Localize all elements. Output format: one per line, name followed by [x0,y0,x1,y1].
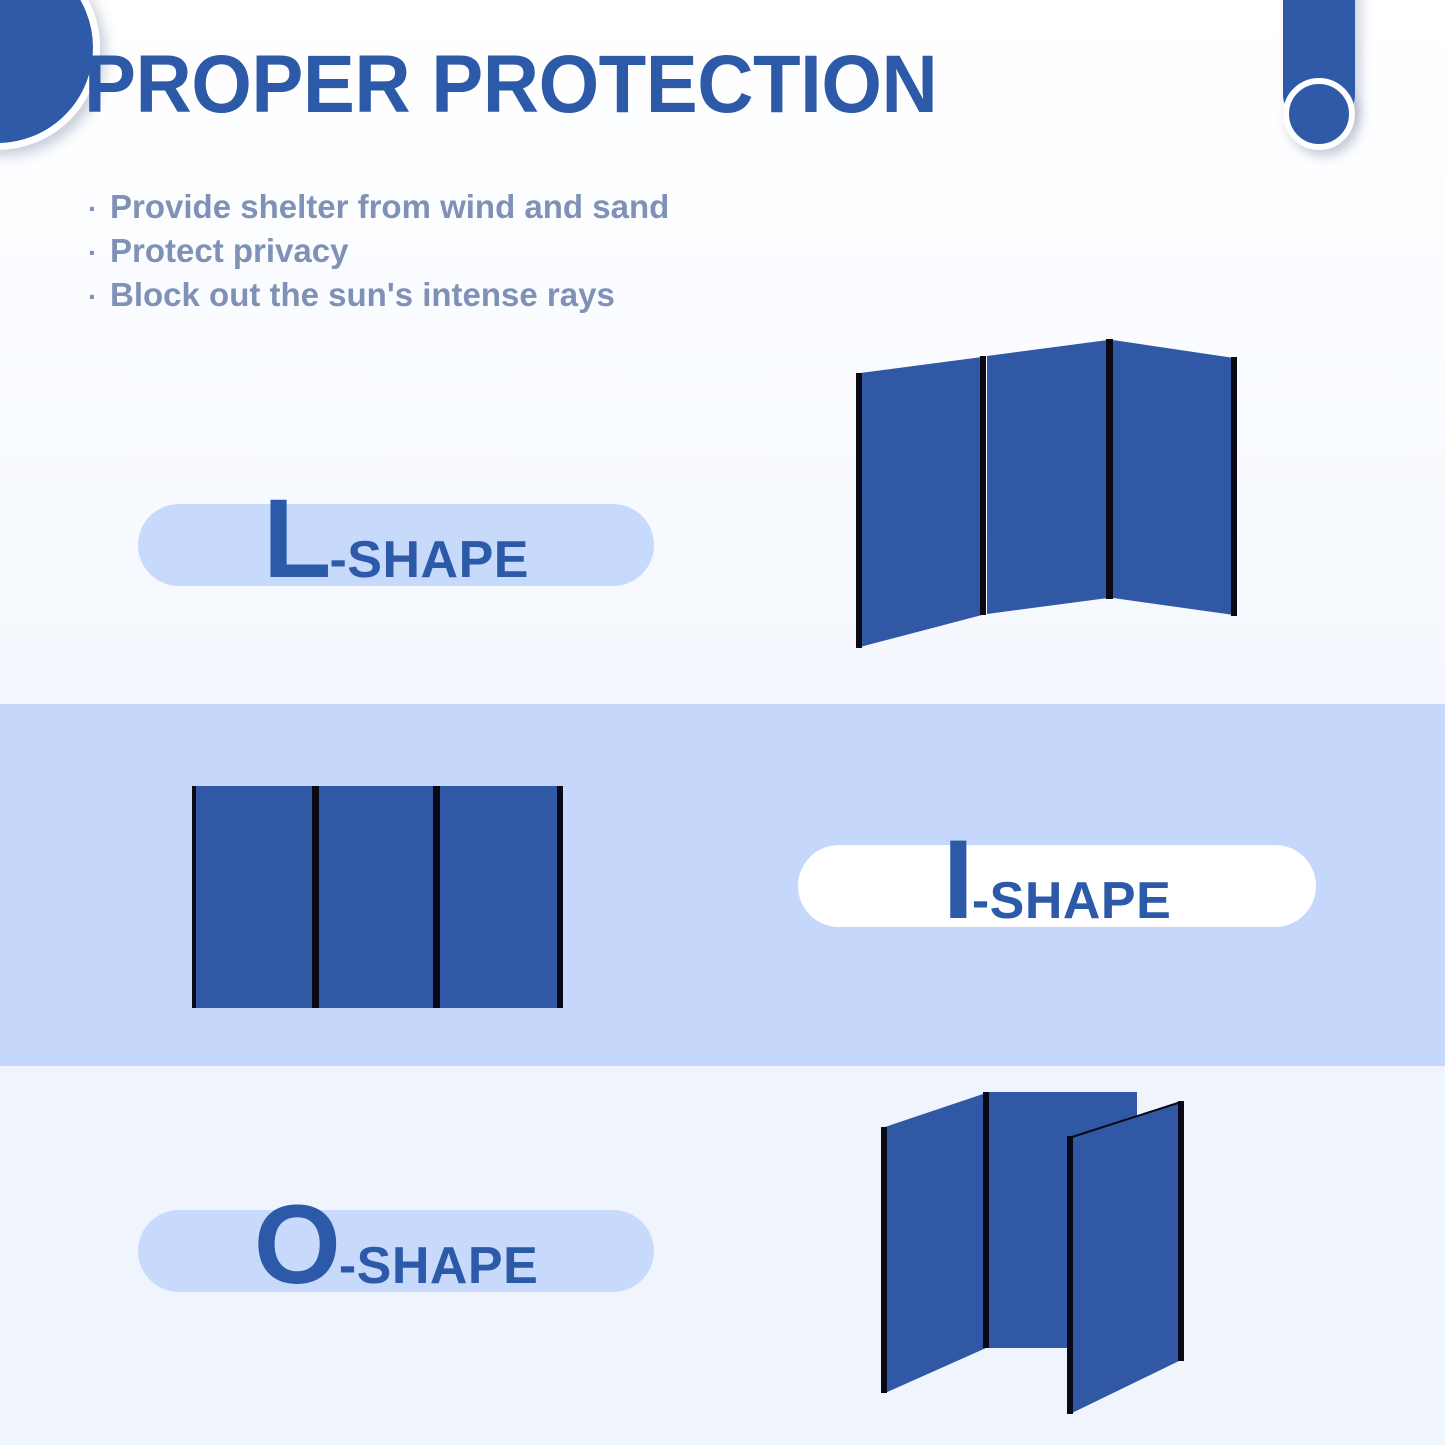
label-suffix-o: -SHAPE [339,1240,538,1292]
label-suffix-i: -SHAPE [972,875,1171,927]
bullet-point-icon: · [88,276,110,318]
list-item-label: Provide shelter from wind and sand [110,186,669,228]
bullet-point-icon: · [88,188,110,230]
label-pill-i-shape: I -SHAPE [798,845,1316,927]
label-text-l-shape: L -SHAPE [263,496,529,586]
label-text-o-shape: O -SHAPE [254,1202,539,1292]
list-item-label: Protect privacy [110,230,348,272]
label-letter-o: O [254,1202,339,1288]
label-letter-i: I [943,837,972,923]
list-item: · Block out the sun's intense rays [88,274,908,318]
illustration-i-shape-screen [180,770,580,1025]
infographic-page: PROPER PROTECTION · Provide shelter from… [0,0,1445,1445]
label-pill-o-shape: O -SHAPE [138,1210,654,1292]
decorative-circle-top-right [1283,78,1355,150]
page-title: PROPER PROTECTION [84,44,937,126]
label-pill-l-shape: L -SHAPE [138,504,654,586]
list-item: · Provide shelter from wind and sand [88,186,908,230]
bullet-point-icon: · [88,232,110,274]
benefits-list: · Provide shelter from wind and sand · P… [88,186,908,318]
illustration-l-shape-screen [830,310,1270,680]
illustration-o-shape-screen [855,1080,1215,1440]
label-suffix-l: -SHAPE [329,534,528,586]
label-text-i-shape: I -SHAPE [943,837,1172,927]
list-item-label: Block out the sun's intense rays [110,274,615,316]
label-letter-l: L [263,496,329,582]
list-item: · Protect privacy [88,230,908,274]
